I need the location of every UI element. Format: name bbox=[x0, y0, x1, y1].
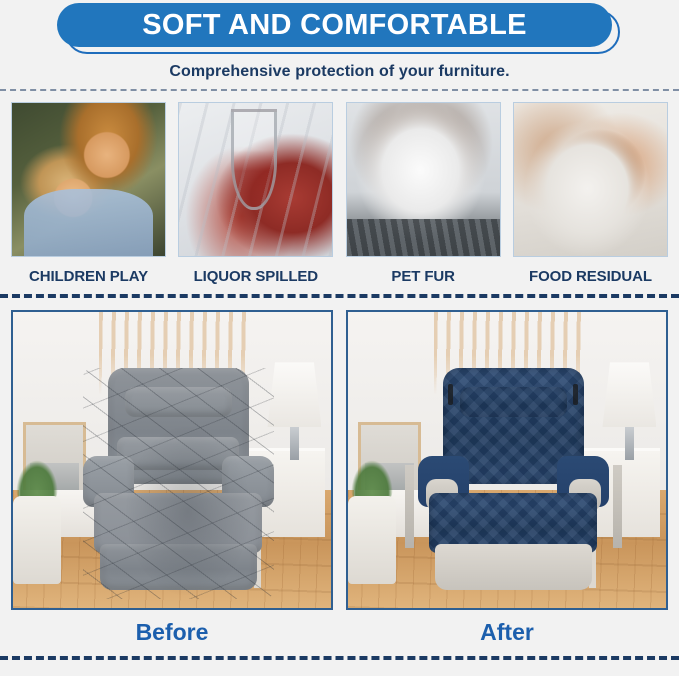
cover-left-strap bbox=[448, 384, 453, 405]
cover-right-strap bbox=[573, 384, 578, 405]
children-hugging-photo bbox=[12, 103, 165, 256]
feature-label: LIQUOR SPILLED bbox=[194, 268, 318, 285]
navy-covered-recliner-photo bbox=[348, 312, 666, 608]
table-lamp-shade bbox=[267, 362, 321, 427]
cover-right-side-flap bbox=[613, 465, 623, 548]
thumbnail-frame bbox=[513, 102, 668, 257]
cover-left-side-flap bbox=[405, 465, 415, 548]
table-lamp-shade bbox=[602, 362, 656, 427]
comparison-frame bbox=[346, 310, 668, 610]
comparison-label-after: After bbox=[346, 619, 668, 646]
hands-eating-food-photo bbox=[514, 103, 667, 256]
grey-stained-recliner-photo bbox=[13, 312, 331, 608]
table-lamp-base bbox=[290, 427, 300, 460]
feature-item-children-play: CHILDREN PLAY bbox=[11, 102, 166, 285]
header-banner: SOFT AND COMFORTABLE bbox=[0, 0, 679, 56]
chair-lumbar-cushion bbox=[117, 437, 239, 469]
page-title: SOFT AND COMFORTABLE bbox=[142, 11, 527, 40]
thumbnail-frame bbox=[11, 102, 166, 257]
feature-label: FOOD RESIDUAL bbox=[529, 268, 652, 285]
divider-middle-wrap bbox=[0, 285, 679, 298]
thumbnail-frame bbox=[178, 102, 333, 257]
cover-headrest-panel bbox=[460, 387, 567, 417]
banner-fill-shape: SOFT AND COMFORTABLE bbox=[57, 3, 612, 47]
comparison-frame bbox=[11, 310, 333, 610]
comparison-item-after: After bbox=[346, 310, 668, 646]
feature-label: PET FUR bbox=[391, 268, 454, 285]
before-after-row: Before bbox=[0, 298, 679, 646]
divider-bottom-wrap bbox=[0, 646, 679, 660]
feature-thumbnail-row: CHILDREN PLAY LIQUOR SPILLED PET FUR FOO… bbox=[0, 91, 679, 285]
feature-item-food-residual: FOOD RESIDUAL bbox=[513, 102, 668, 285]
round-stool bbox=[348, 496, 396, 585]
table-lamp-base bbox=[625, 427, 635, 460]
divider-bottom bbox=[0, 656, 679, 660]
divider-top bbox=[0, 89, 679, 91]
feature-label: CHILDREN PLAY bbox=[29, 268, 148, 285]
recliner-chair-with-cover bbox=[418, 368, 609, 599]
comparison-label-before: Before bbox=[11, 619, 333, 646]
round-stool bbox=[13, 496, 61, 585]
chair-footrest bbox=[100, 544, 256, 590]
chair-footrest bbox=[435, 544, 591, 590]
thumbnail-frame bbox=[346, 102, 501, 257]
feature-item-pet-fur: PET FUR bbox=[346, 102, 501, 285]
subtitle: Comprehensive protection of your furnitu… bbox=[0, 63, 679, 81]
spilled-wine-glass-photo bbox=[179, 103, 332, 256]
recliner-chair bbox=[83, 368, 274, 599]
fluffy-cat-photo bbox=[347, 103, 500, 256]
chair-headrest bbox=[125, 387, 232, 417]
feature-item-liquor-spilled: LIQUOR SPILLED bbox=[178, 102, 333, 285]
comparison-item-before: Before bbox=[11, 310, 333, 646]
